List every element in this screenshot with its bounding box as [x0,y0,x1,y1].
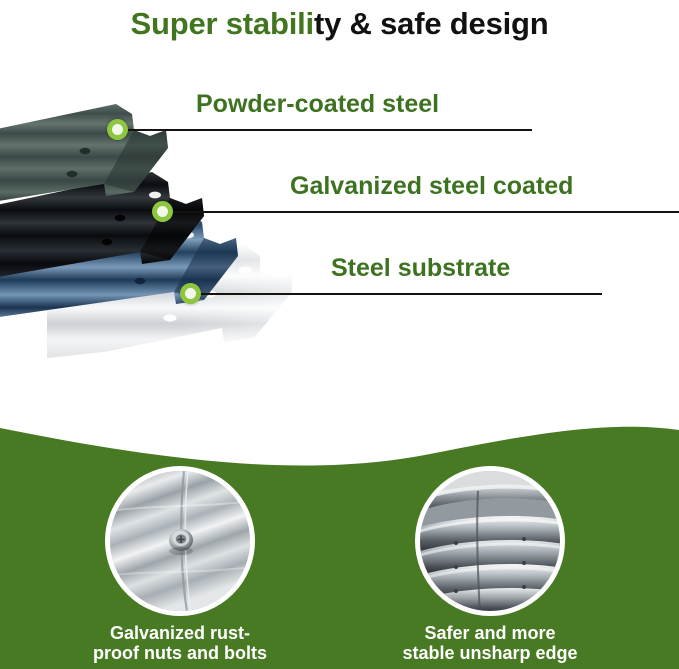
callout-marker-galvanized-steel-coated [152,201,173,222]
title-highlight: Super stabili [131,6,314,41]
callout-marker-steel-substrate [180,283,201,304]
callout-marker-powder-coated-steel [107,119,128,140]
product-infographic: Super stability & safe design [0,0,679,669]
leader-line-galvanized-steel-coated [162,211,679,213]
galvanized-bolt-closeup-photo [105,466,255,616]
rolled-safe-edge-closeup-photo [415,466,565,616]
feature-caption-nuts-and-bolts: Galvanized rust- proof nuts and bolts [40,623,320,663]
callout-label-galvanized-steel-coated: Galvanized steel coated [290,174,573,199]
feature-caption-safe-edge: Safer and more stable unsharp edge [350,623,630,663]
leader-line-steel-substrate [190,293,602,295]
leader-line-powder-coated-steel [118,129,532,131]
title-remainder: ty & safe design [314,6,549,41]
callout-label-steel-substrate: Steel substrate [331,256,510,281]
layered-steel-panels-illustration [0,96,412,406]
feature-safe-unsharp-edge: Safer and more stable unsharp edge [350,466,630,663]
callout-label-powder-coated-steel: Powder-coated steel [196,92,439,117]
feature-galvanized-nuts-and-bolts: Galvanized rust- proof nuts and bolts [40,466,320,663]
page-title: Super stability & safe design [0,0,679,46]
